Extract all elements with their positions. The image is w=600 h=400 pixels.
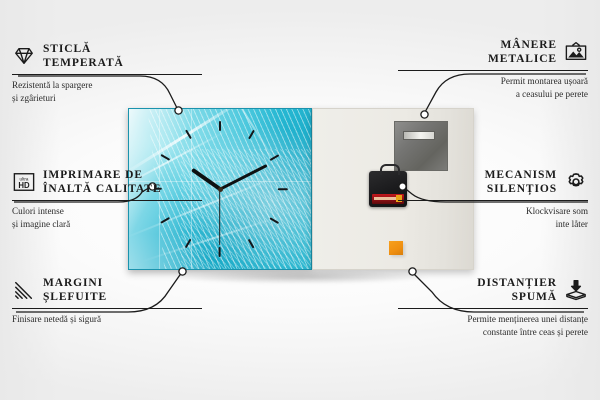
callout-description: Permit montarea ușoară a ceasului pe per… xyxy=(398,75,588,99)
callout-rule xyxy=(12,308,202,309)
clock-center-pin xyxy=(218,187,223,192)
callout-title: MECANISM SILENȚIOS xyxy=(485,168,557,196)
callout-head: DISTANȚIER SPUMĂ xyxy=(398,276,588,304)
callout-hd-print: ultra HD IMPRIMARE DE ÎNALTĂ CALITATE Cu… xyxy=(12,168,202,230)
callout-description: Finisare netedă și sigură xyxy=(12,313,202,325)
callout-foam-spacer: DISTANȚIER SPUMĂ Permite menținerea unei… xyxy=(398,276,588,338)
clock-tick xyxy=(248,130,254,139)
callout-head: MÂNERE METALICE xyxy=(398,38,588,66)
metal-hanger-plate xyxy=(394,121,448,171)
clock-tick xyxy=(219,121,221,131)
clock-tick xyxy=(278,188,288,190)
callout-head: MARGINI ȘLEFUITE xyxy=(12,276,202,304)
diagonal-lines-icon xyxy=(12,279,36,301)
callout-description: Culori intense și imagine clară xyxy=(12,205,202,229)
clock-minute-hand xyxy=(219,164,267,190)
callout-metal-handles: MÂNERE METALICE Permit montarea ușoară a… xyxy=(398,38,588,100)
clock-tick xyxy=(270,154,279,160)
callout-title: MÂNERE METALICE xyxy=(488,38,557,66)
callout-description: Klockvisare som inte låter xyxy=(398,205,588,229)
callout-polished-edges: MARGINI ȘLEFUITE Finisare netedă și sigu… xyxy=(12,276,202,326)
callout-head: ultra HD IMPRIMARE DE ÎNALTĂ CALITATE xyxy=(12,168,202,196)
infographic-stage: STICLĂ TEMPERATĂ Rezistentă la spargere … xyxy=(0,0,600,400)
callout-description: Permite menținerea unei distanțe constan… xyxy=(398,313,588,337)
clock-tick xyxy=(161,154,170,160)
callout-tempered-glass: STICLĂ TEMPERATĂ Rezistentă la spargere … xyxy=(12,42,202,104)
callout-title: MARGINI ȘLEFUITE xyxy=(43,276,107,304)
mechanism-hanging-loop xyxy=(380,164,400,175)
battery-label-band xyxy=(374,197,396,200)
ultra-hd-icon: ultra HD xyxy=(12,171,36,193)
gear-icon xyxy=(564,171,588,193)
clock-tick xyxy=(219,247,221,257)
clock-second-hand xyxy=(219,189,220,245)
diamond-icon xyxy=(12,45,36,67)
clock-tick xyxy=(185,130,191,139)
callout-description: Rezistentă la spargere și zgârieturi xyxy=(12,79,202,103)
callout-rule xyxy=(398,308,588,309)
callout-silent-mechanism: MECANISM SILENȚIOS Klockvisare som inte … xyxy=(398,168,588,230)
svg-text:HD: HD xyxy=(18,181,30,190)
callout-head: STICLĂ TEMPERATĂ xyxy=(12,42,202,70)
callout-rule xyxy=(12,200,202,201)
clock-tick xyxy=(270,217,279,223)
callout-title: STICLĂ TEMPERATĂ xyxy=(43,42,124,70)
clock-tick xyxy=(185,239,191,248)
hanger-slot xyxy=(403,131,435,140)
callout-head: MECANISM SILENȚIOS xyxy=(398,168,588,196)
press-down-foam-icon xyxy=(564,279,588,301)
callout-rule xyxy=(398,200,588,201)
callout-rule xyxy=(12,74,202,75)
callout-title: DISTANȚIER SPUMĂ xyxy=(477,276,557,304)
foam-spacer-pad xyxy=(389,241,403,255)
picture-frame-icon xyxy=(564,41,588,63)
callout-title: IMPRIMARE DE ÎNALTĂ CALITATE xyxy=(43,168,161,196)
callout-rule xyxy=(398,70,588,71)
clock-tick xyxy=(248,239,254,248)
